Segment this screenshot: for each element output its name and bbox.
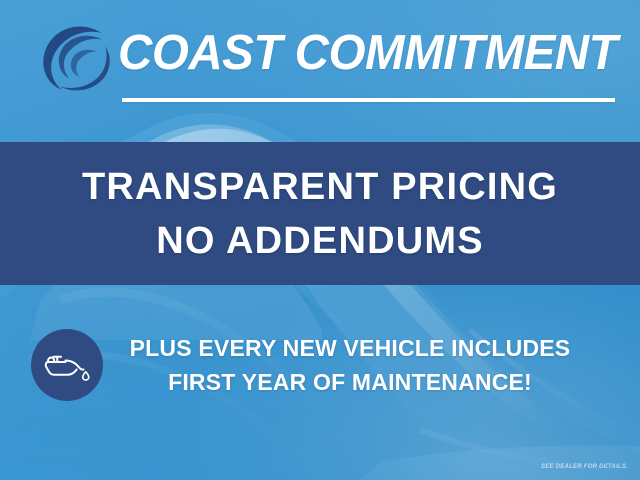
- coast-commitment-banner: COAST COMMITMENT TRANSPARENT PRICING NO …: [0, 0, 640, 480]
- banner-header: COAST COMMITMENT: [0, 0, 640, 142]
- headline-transparent-pricing: TRANSPARENT PRICING: [82, 168, 558, 206]
- disclaimer-text: SEE DEALER FOR DETAILS.: [541, 464, 628, 470]
- promo-line-2: FIRST YEAR OF MAINTENANCE!: [168, 371, 532, 394]
- headline-no-addendums: NO ADDENDUMS: [156, 222, 484, 260]
- oil-can-icon: [43, 347, 91, 383]
- promo-icon-badge: [31, 329, 103, 401]
- headline-band: TRANSPARENT PRICING NO ADDENDUMS: [0, 142, 640, 285]
- promo-line-1: PLUS EVERY NEW VEHICLE INCLUDES: [130, 337, 571, 360]
- promo-row: PLUS EVERY NEW VEHICLE INCLUDES FIRST YE…: [0, 325, 640, 405]
- header-divider: [122, 98, 615, 102]
- coast-wave-logo-icon: [34, 14, 120, 100]
- promo-message: PLUS EVERY NEW VEHICLE INCLUDES FIRST YE…: [115, 325, 585, 405]
- page-title: COAST COMMITMENT: [118, 22, 613, 84]
